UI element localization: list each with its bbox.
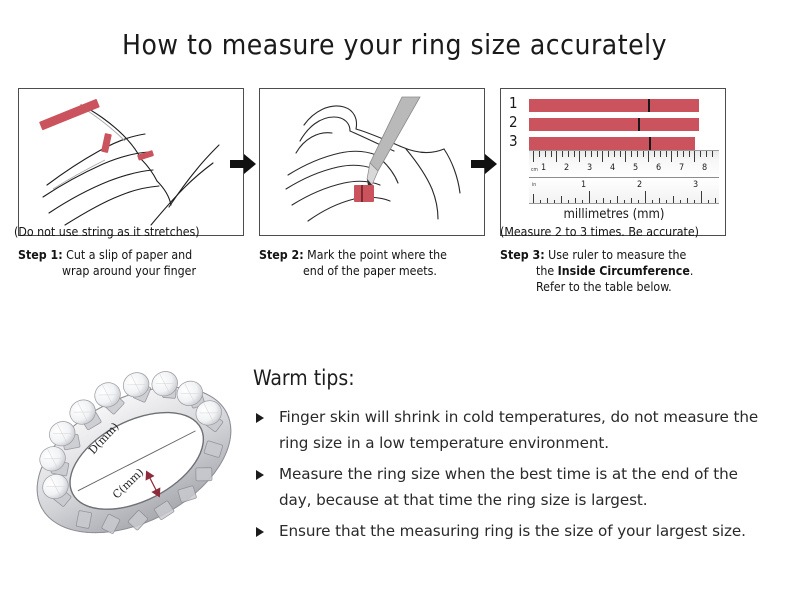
strip-number: 3	[509, 134, 525, 149]
step-3-note: (Measure 2 to 3 times. Be accurate)	[500, 225, 699, 239]
step-3-caption: Step 3: Use ruler to measure the the Ins…	[500, 247, 732, 295]
strip-bar	[529, 137, 695, 150]
page-title: How to measure your ring size accurately	[0, 28, 789, 61]
ruler-cm-tick-label: 5	[633, 164, 638, 173]
step-3-line1: Use ruler to measure the	[548, 248, 686, 262]
step-2-column: Step 2: Mark the point where the end of …	[259, 88, 487, 279]
strip-mark-tick	[638, 118, 640, 131]
step-3-column: 1 2 3	[500, 88, 728, 295]
ruler-cm-tick-label: 2	[564, 164, 569, 173]
step-3-inside-circumference: Inside Circumference	[558, 264, 690, 278]
tip-item: Ensure that the measuring ring is the si…	[253, 518, 773, 544]
ruler-caption: millimetres (mm)	[501, 207, 726, 222]
hand-marking-paper-illustration	[260, 89, 485, 236]
strip-mark-tick	[648, 99, 650, 112]
triangle-bullet-icon	[256, 470, 264, 480]
steps-row: Step 1: Cut a slip of paper and wrap aro…	[0, 88, 789, 338]
arrow-step1-to-step2	[228, 151, 258, 177]
step-1-line2: wrap around your finger	[18, 263, 250, 279]
step-3-line2-suffix: .	[690, 264, 694, 278]
eternity-ring-illustration	[18, 352, 250, 567]
triangle-bullet-icon	[256, 413, 264, 423]
tip-item: Finger skin will shrink in cold temperat…	[253, 404, 773, 456]
strip-bar	[529, 118, 699, 131]
strip-number: 2	[509, 115, 525, 130]
triangle-bullet-icon	[256, 527, 264, 537]
step-3-panel: 1 2 3	[500, 88, 726, 236]
ruler-inch-tick-label: 3	[693, 181, 698, 190]
warm-tips-title: Warm tips:	[253, 366, 773, 390]
measured-strip-row: 1	[509, 99, 719, 112]
tip-item: Measure the ring size when the best time…	[253, 461, 773, 513]
step-1-line1: Cut a slip of paper and	[66, 248, 192, 262]
step-1-panel	[18, 88, 244, 236]
strip-number: 1	[509, 96, 525, 111]
warm-tips-section: Warm tips: Finger skin will shrink in co…	[253, 366, 773, 549]
ruler-cm-tick-label: 1	[541, 164, 546, 173]
step-1-caption: Step 1: Cut a slip of paper and wrap aro…	[18, 247, 250, 279]
strip-mark-tick	[649, 137, 651, 150]
ruler-cm-scale: cm 1 2 3 4 5 6 7 8	[529, 151, 719, 177]
step-1-label: Step 1:	[18, 248, 63, 262]
step-2-label: Step 2:	[259, 248, 304, 262]
ruler-cm-tick-label: 6	[656, 164, 661, 173]
ruler-inch-tick-label: 1	[581, 181, 586, 190]
step-3-label: Step 3:	[500, 248, 545, 262]
step-3-line2-prefix: the	[536, 264, 558, 278]
hand-with-paper-slip-illustration	[19, 89, 244, 236]
step-3-line3: Refer to the table below.	[500, 279, 732, 295]
step-2-panel	[259, 88, 485, 236]
measured-strip-row: 2	[509, 118, 719, 131]
ruler-inch-unit: in	[532, 182, 536, 188]
ruler-inch-scale: in 1 2 3	[529, 177, 719, 204]
tip-text: Ensure that the measuring ring is the si…	[279, 522, 746, 540]
step-2-line1: Mark the point where the	[307, 248, 447, 262]
ruler-cm-tick-label: 3	[587, 164, 592, 173]
tip-text: Measure the ring size when the best time…	[279, 465, 738, 509]
step-2-caption: Step 2: Mark the point where the end of …	[259, 247, 491, 279]
ring-diagram: D(mm) C(mm)	[18, 352, 250, 567]
ruler-cm-unit: cm	[531, 167, 538, 173]
tip-text: Finger skin will shrink in cold temperat…	[279, 408, 758, 452]
measured-strip-row: 3	[509, 137, 719, 150]
ruler-cm-tick-label: 7	[679, 164, 684, 173]
step-1-column: Step 1: Cut a slip of paper and wrap aro…	[18, 88, 246, 279]
ruler-cm-tick-label: 8	[702, 164, 707, 173]
step-2-line2: end of the paper meets.	[259, 263, 491, 279]
ruler-inch-tick-label: 2	[637, 181, 642, 190]
strip-bar	[529, 99, 699, 112]
arrow-step2-to-step3	[469, 151, 499, 177]
ruler-cm-tick-label: 4	[610, 164, 615, 173]
ruler-graphic: cm 1 2 3 4 5 6 7 8	[529, 150, 719, 204]
step-1-note: (Do not use string as it stretches)	[14, 225, 200, 239]
